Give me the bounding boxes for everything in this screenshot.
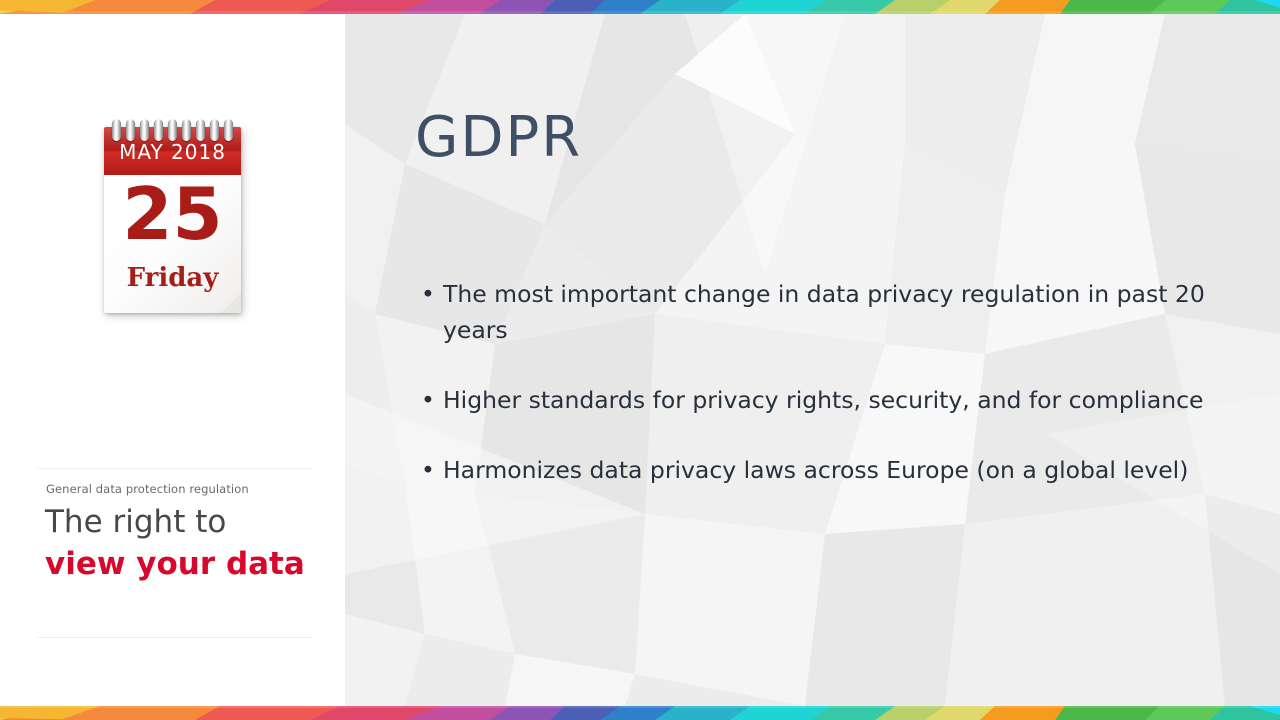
calendar-ring bbox=[112, 119, 121, 141]
calendar-weekday-label: Friday bbox=[104, 263, 241, 293]
calendar-ring bbox=[224, 119, 233, 141]
bullet-text: Higher standards for privacy rights, sec… bbox=[443, 386, 1204, 414]
calendar-ring bbox=[140, 119, 149, 141]
calendar-ring bbox=[126, 119, 135, 141]
quote-line-accent: view your data bbox=[45, 544, 330, 584]
quote-line-primary: The right to bbox=[45, 502, 325, 542]
bullet-text: Harmonizes data privacy laws across Euro… bbox=[443, 456, 1188, 484]
quote-divider-top bbox=[38, 468, 313, 469]
calendar-icon: MAY 2018 25 Friday bbox=[104, 127, 241, 315]
calendar-ring bbox=[168, 119, 177, 141]
calendar-ring bbox=[210, 119, 219, 141]
bullet-item: •Higher standards for privacy rights, se… bbox=[413, 382, 1223, 418]
quote-divider-bottom bbox=[38, 637, 313, 638]
left-panel: MAY 2018 25 Friday General data protecti… bbox=[0, 14, 345, 706]
bullet-item: •The most important change in data priva… bbox=[413, 276, 1223, 348]
calendar-page-fold-highlight bbox=[221, 293, 241, 313]
bullet-text: The most important change in data privac… bbox=[443, 280, 1205, 344]
bottom-color-band bbox=[0, 706, 1280, 720]
calendar-body: MAY 2018 25 Friday bbox=[104, 127, 241, 313]
calendar-ring bbox=[196, 119, 205, 141]
calendar-ring bbox=[182, 119, 191, 141]
bullet-marker-icon: • bbox=[421, 452, 435, 488]
calendar-spiral-rings bbox=[104, 119, 241, 145]
top-band-polygons bbox=[0, 0, 1280, 14]
top-color-band bbox=[0, 0, 1280, 14]
calendar-day-number: 25 bbox=[104, 175, 241, 253]
bullet-list: •The most important change in data priva… bbox=[413, 276, 1223, 522]
page-title: GDPR bbox=[415, 106, 582, 170]
content-panel: GDPR •The most important change in data … bbox=[345, 14, 1280, 706]
calendar-ring bbox=[154, 119, 163, 141]
bottom-band-polygons bbox=[0, 706, 1280, 720]
bullet-marker-icon: • bbox=[421, 382, 435, 418]
quote-kicker: General data protection regulation bbox=[46, 482, 316, 496]
slide-canvas: MAY 2018 25 Friday General data protecti… bbox=[0, 0, 1280, 720]
bullet-marker-icon: • bbox=[421, 276, 435, 312]
bullet-item: •Harmonizes data privacy laws across Eur… bbox=[413, 452, 1223, 488]
